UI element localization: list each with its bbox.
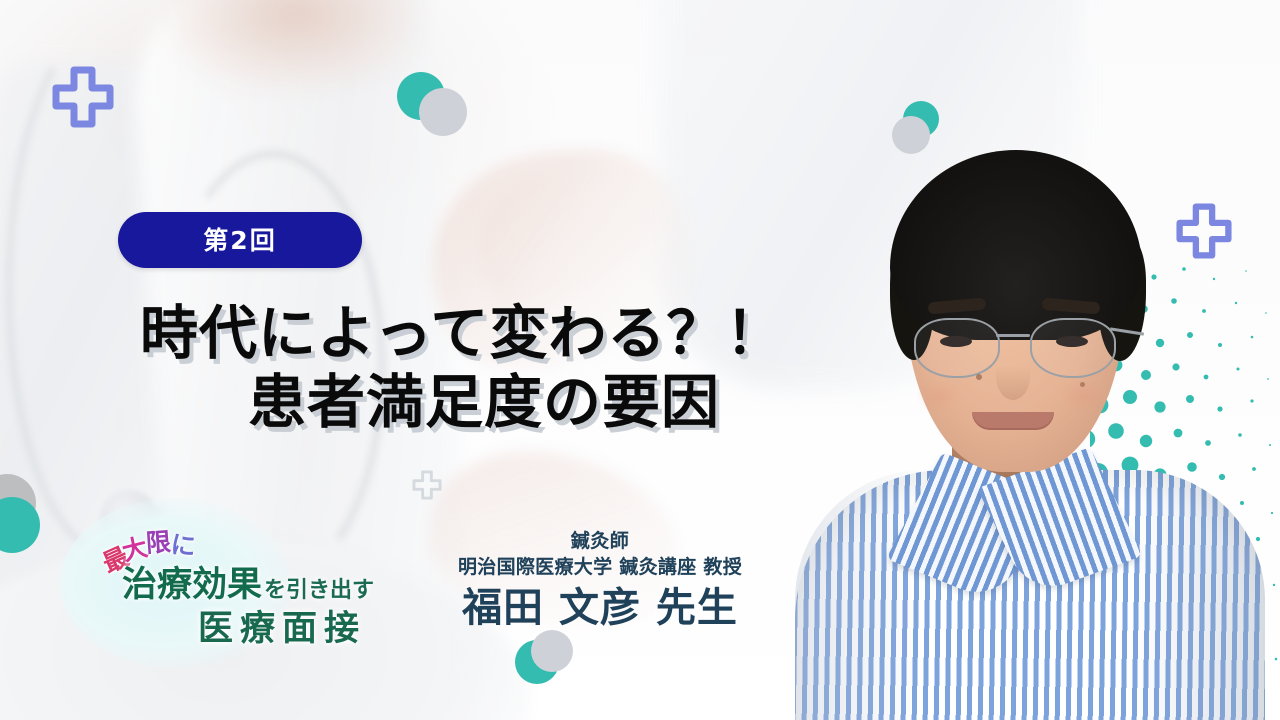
speaker-affiliation: 明治国際医療大学 鍼灸講座 教授 xyxy=(420,556,780,580)
speaker-name: 福田 文彦 先生 xyxy=(420,586,780,630)
title-line-2: 患者満足度の要因 xyxy=(0,369,900,436)
speaker-credentials: 鍼灸師 明治国際医療大学 鍼灸講座 教授 福田 文彦 先生 xyxy=(420,530,780,630)
speaker-shirt-shade-left xyxy=(795,470,925,720)
deco-circle-gray-bottom xyxy=(531,630,573,672)
program-logo-arc-char-2: 限 xyxy=(145,522,172,560)
speaker-mouth xyxy=(972,412,1054,430)
program-logo-bottom: 医療面接 xyxy=(198,600,366,651)
medical-cross-icon-top-left xyxy=(52,66,114,128)
doctor-neck xyxy=(170,0,420,90)
speaker-nose xyxy=(996,352,1030,400)
title-line-1: 時代によって変わる？！ xyxy=(0,300,900,367)
speaker-shirt-shade-right xyxy=(1130,470,1265,720)
speaker-mole-right xyxy=(1080,382,1085,387)
eyeglasses-lens-left-icon xyxy=(914,318,1000,378)
speaker-role: 鍼灸師 xyxy=(420,530,780,554)
episode-badge-label: 第2回 xyxy=(203,228,276,253)
episode-badge: 第2回 xyxy=(118,212,362,268)
deco-circle-gray-top-a xyxy=(419,88,467,136)
speaker-mole-left xyxy=(976,374,982,380)
speaker-hair xyxy=(890,150,1142,340)
slide-canvas: 第2回 時代によって変わる？！ 患者満足度の要因 最大限に 治療効果 を引き出す… xyxy=(0,0,1280,720)
program-logo: 最大限に 治療効果 を引き出す 医療面接 xyxy=(92,520,432,650)
speaker-cheek-left xyxy=(916,380,962,412)
page-title: 時代によって変わる？！ 患者満足度の要因 xyxy=(0,300,900,437)
medical-cross-icon-center xyxy=(412,470,442,500)
eyeglasses-bridge-icon xyxy=(996,334,1030,337)
eyeglasses-lens-right-icon xyxy=(1030,318,1116,378)
